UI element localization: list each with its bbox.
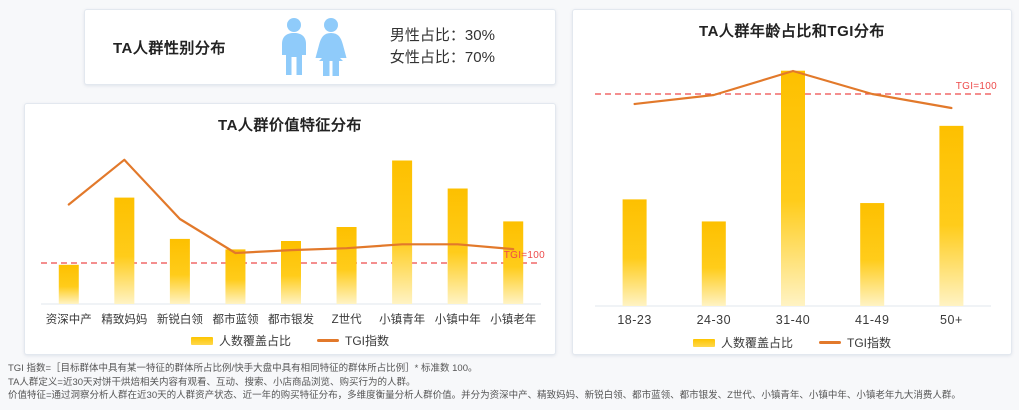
legend-item-0[interactable]: 人数覆盖占比 bbox=[191, 332, 291, 349]
bar-0 bbox=[623, 199, 647, 306]
x-label-1: 24-30 bbox=[674, 313, 753, 327]
legend-bar-swatch-icon bbox=[693, 339, 715, 347]
legend-item-0[interactable]: 人数覆盖占比 bbox=[693, 334, 793, 351]
x-label-0: 资深中产 bbox=[41, 311, 97, 327]
age-distribution-card: TA人群年龄占比和TGI分布 TGI=100 18-2324-3031-4041… bbox=[572, 9, 1012, 355]
male-figure-icon bbox=[278, 17, 310, 77]
value-chart-title: TA人群价值特征分布 bbox=[25, 104, 555, 135]
x-label-3: 都市蓝领 bbox=[208, 311, 264, 327]
bar-3 bbox=[860, 203, 884, 306]
bar-0 bbox=[59, 265, 79, 304]
bar-7 bbox=[448, 189, 468, 305]
age-chart-title: TA人群年龄占比和TGI分布 bbox=[573, 10, 1011, 41]
x-label-5: Z世代 bbox=[319, 311, 375, 327]
x-label-4: 50+ bbox=[912, 313, 991, 327]
value-chart-legend: 人数覆盖占比TGI指数 bbox=[25, 332, 555, 349]
bar-1 bbox=[114, 198, 134, 304]
x-label-7: 小镇中年 bbox=[430, 311, 486, 327]
x-label-3: 41-49 bbox=[833, 313, 912, 327]
x-label-4: 都市银发 bbox=[263, 311, 319, 327]
age-chart-svg bbox=[595, 46, 991, 310]
tgi-line bbox=[69, 160, 513, 253]
x-label-1: 精致妈妈 bbox=[97, 311, 153, 327]
footnote-value-definition: 价值特征=通过洞察分析人群在近30天的人群资产状态、近一年的购买特征分布，多维度… bbox=[8, 389, 1013, 403]
legend-label: TGI指数 bbox=[345, 332, 389, 349]
bar-4 bbox=[939, 126, 963, 306]
x-label-2: 新锐白领 bbox=[152, 311, 208, 327]
gender-card-title: TA人群性别分布 bbox=[113, 37, 226, 58]
x-label-8: 小镇老年 bbox=[486, 311, 542, 327]
legend-line-swatch-icon bbox=[317, 339, 339, 342]
value-chart-plot-area: TGI=100 bbox=[41, 138, 541, 308]
female-ratio-text: 女性占比：70% bbox=[390, 47, 495, 69]
gender-stats: 男性占比：30% 女性占比：70% bbox=[390, 25, 495, 69]
legend-line-swatch-icon bbox=[819, 341, 841, 344]
legend-item-1[interactable]: TGI指数 bbox=[317, 332, 389, 349]
age-chart-x-axis-labels: 18-2324-3031-4041-4950+ bbox=[595, 313, 991, 327]
age-chart-plot-area: TGI=100 bbox=[595, 46, 991, 310]
value-tgi-reference-label: TGI=100 bbox=[504, 250, 545, 261]
gender-distribution-card: TA人群性别分布 男性占比：30% 女性占比：70% bbox=[84, 9, 556, 85]
bar-1 bbox=[702, 221, 726, 306]
bar-5 bbox=[337, 227, 357, 304]
bar-6 bbox=[392, 161, 412, 305]
x-label-0: 18-23 bbox=[595, 313, 674, 327]
bar-2 bbox=[781, 71, 805, 306]
legend-bar-swatch-icon bbox=[191, 337, 213, 345]
footnote-ta-definition: TA人群定义=近30天对饼干烘焙相关内容有观看、互动、搜索、小店商品浏览、购买行… bbox=[8, 376, 1013, 390]
bar-3 bbox=[225, 249, 245, 304]
female-figure-icon bbox=[314, 17, 348, 77]
gender-icon-group bbox=[278, 17, 348, 77]
age-tgi-reference-label: TGI=100 bbox=[956, 81, 997, 92]
legend-item-1[interactable]: TGI指数 bbox=[819, 334, 891, 351]
value-chart-x-axis-labels: 资深中产精致妈妈新锐白领都市蓝领都市银发Z世代小镇青年小镇中年小镇老年 bbox=[41, 311, 541, 327]
male-ratio-text: 男性占比：30% bbox=[390, 25, 495, 47]
value-chart-svg bbox=[41, 138, 541, 308]
footnote-tgi-definition: TGI 指数=［目标群体中具有某一特征的群体所占比例/快手大盘中具有相同特征的群… bbox=[8, 362, 1013, 376]
value-distribution-card: TA人群价值特征分布 TGI=100 资深中产精致妈妈新锐白领都市蓝领都市银发Z… bbox=[24, 103, 556, 355]
bar-8 bbox=[503, 221, 523, 304]
legend-label: 人数覆盖占比 bbox=[219, 332, 291, 349]
x-label-6: 小镇青年 bbox=[374, 311, 430, 327]
age-chart-legend: 人数覆盖占比TGI指数 bbox=[573, 334, 1011, 351]
footnotes-block: TGI 指数=［目标群体中具有某一特征的群体所占比例/快手大盘中具有相同特征的群… bbox=[8, 362, 1013, 403]
legend-label: TGI指数 bbox=[847, 334, 891, 351]
legend-label: 人数覆盖占比 bbox=[721, 334, 793, 351]
bar-2 bbox=[170, 239, 190, 304]
x-label-2: 31-40 bbox=[753, 313, 832, 327]
